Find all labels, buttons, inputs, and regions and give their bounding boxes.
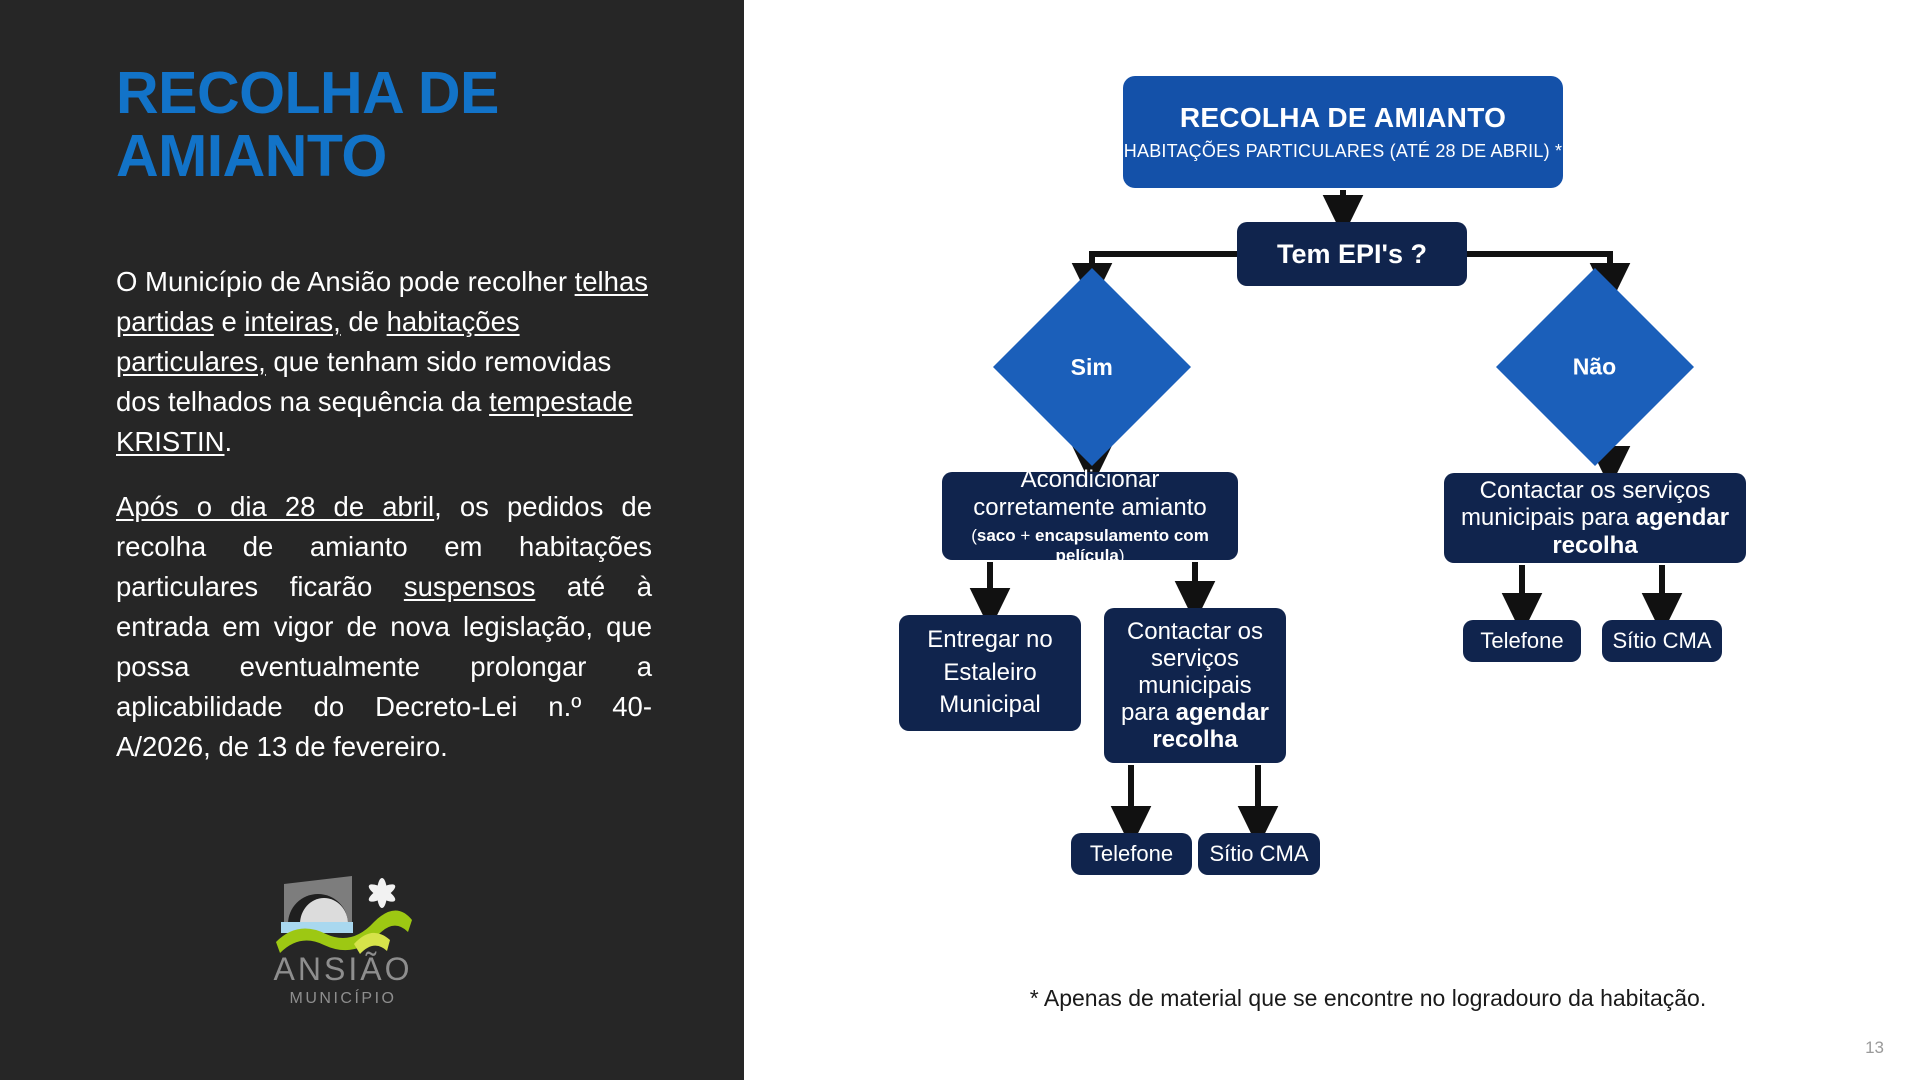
flow-node-recolha-amianto[interactable]: RECOLHA DE AMIANTO HABITAÇÕES PARTICULAR… bbox=[1123, 76, 1563, 188]
telefone-yes-label: Telefone bbox=[1090, 841, 1173, 867]
p1-part2: e bbox=[214, 306, 245, 337]
logo-subtitle: MUNICÍPIO bbox=[290, 988, 397, 1007]
body-copy: O Município de Ansião pode recolher telh… bbox=[116, 262, 652, 793]
contactar-yes-text: Contactar os serviços municipais para ag… bbox=[1112, 618, 1278, 754]
ansiao-municipality-logo: ANSIÃO MUNICÍPIO bbox=[248, 862, 438, 1012]
p1-part3: de bbox=[341, 306, 387, 337]
p2-underline1: Após o dia 28 de abril bbox=[116, 491, 434, 522]
flow-node-title: RECOLHA DE AMIANTO bbox=[1180, 102, 1506, 134]
left-info-panel: RECOLHA DE AMIANTO O Município de Ansião… bbox=[0, 0, 744, 1080]
flow-node-entregar-estaleiro[interactable]: Entregar no Estaleiro Municipal bbox=[899, 615, 1081, 731]
acondicionar-line-2: corretamente amianto bbox=[973, 494, 1206, 522]
entregar-label: Entregar no Estaleiro Municipal bbox=[899, 624, 1081, 721]
sitio-no-label: Sítio CMA bbox=[1612, 628, 1711, 654]
page-title: RECOLHA DE AMIANTO bbox=[116, 62, 646, 187]
flow-node-sitio-cma-no[interactable]: Sítio CMA bbox=[1602, 620, 1722, 662]
sub-plus: + bbox=[1016, 526, 1035, 545]
logo-flower-icon bbox=[367, 878, 398, 908]
p1-part1: O Município de Ansião pode recolher bbox=[116, 266, 575, 297]
flow-node-subtitle: HABITAÇÕES PARTICULARES (ATÉ 28 DE ABRIL… bbox=[1124, 141, 1562, 162]
contactar-no-text: Contactar os serviços municipais para ag… bbox=[1454, 477, 1736, 560]
sub-bold-saco: saco bbox=[977, 526, 1016, 545]
sitio-yes-label: Sítio CMA bbox=[1209, 841, 1308, 867]
flow-node-contactar-servicos-no[interactable]: Contactar os serviços municipais para ag… bbox=[1444, 473, 1746, 563]
flow-node-sitio-cma-yes[interactable]: Sítio CMA bbox=[1198, 833, 1320, 875]
logo-artwork: ANSIÃO MUNICÍPIO bbox=[248, 862, 438, 1012]
p1-part5: . bbox=[224, 426, 232, 457]
flow-node-contactar-servicos-yes[interactable]: Contactar os serviços municipais para ag… bbox=[1104, 608, 1286, 763]
flow-node-telefone-no[interactable]: Telefone bbox=[1463, 620, 1581, 662]
flow-diamond-nao-label: Não bbox=[1573, 353, 1616, 380]
flow-diamond-sim-label: Sim bbox=[1071, 354, 1113, 381]
flow-node-decision-epi[interactable]: Tem EPI's ? bbox=[1237, 222, 1467, 286]
p2-underline2: suspensos bbox=[404, 571, 535, 602]
paragraph-scope: O Município de Ansião pode recolher telh… bbox=[116, 262, 652, 461]
paragraph-deadline: Após o dia 28 de abril, os pedidos de re… bbox=[116, 487, 652, 766]
telefone-no-label: Telefone bbox=[1480, 628, 1563, 654]
page-number: 13 bbox=[1865, 1038, 1884, 1058]
flow-node-telefone-yes[interactable]: Telefone bbox=[1071, 833, 1192, 875]
logo-wordmark: ANSIÃO bbox=[274, 951, 413, 987]
sub-close: ) bbox=[1119, 546, 1125, 565]
acondicionar-line-1: Acondicionar bbox=[1021, 466, 1160, 494]
flow-decision-label: Tem EPI's ? bbox=[1277, 239, 1427, 270]
flow-node-acondicionar[interactable]: Acondicionar corretamente amianto (saco … bbox=[942, 472, 1238, 560]
footnote-text: * Apenas de material que se encontre no … bbox=[968, 985, 1768, 1012]
p1-underline2: inteiras, bbox=[244, 306, 340, 337]
acondicionar-subnote: (saco + encapsulamento com película) bbox=[952, 526, 1228, 566]
